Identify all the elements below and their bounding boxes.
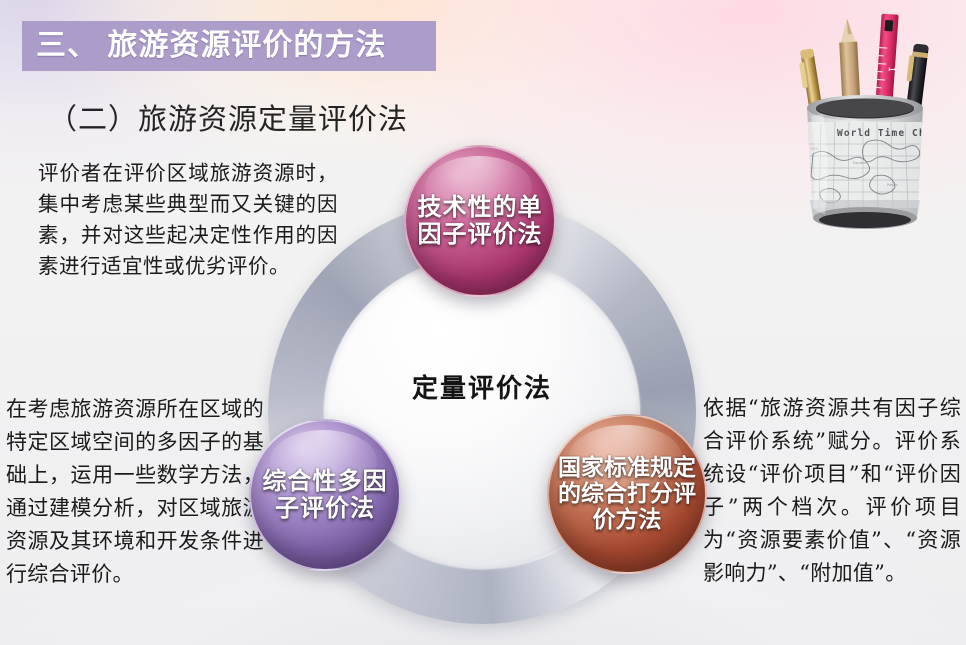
slide-canvas: 三、 旅游资源评价的方法 （二）旅游资源定量评价法 评价者在评价区域旅游资源时，… xyxy=(0,0,966,645)
paragraph-right: 依据“旅游资源共有因子综合评价系统”赋分。评价系统设“评价项目”和“评价因子”两… xyxy=(703,392,961,590)
cup-caption-text: World Time Chart xyxy=(837,128,946,139)
diagram-node-composite-label: 综合性多因子评价法 xyxy=(251,468,399,523)
cup-body: World Time Chart GMT Equator Pacific xyxy=(807,95,946,229)
diagram-node-national[interactable]: 国家标准规定的综合打分评价方法 xyxy=(547,414,707,574)
page-title: 三、 旅游资源评价的方法 xyxy=(22,31,386,61)
section-subtitle: （二）旅游资源定量评价法 xyxy=(48,96,408,138)
svg-text:Equator: Equator xyxy=(853,161,867,165)
diagram-center-label: 定量评价法 xyxy=(268,368,696,405)
section-title-banner: 三、 旅游资源评价的方法 xyxy=(22,21,436,71)
paragraph-bottom-left: 在考虑旅游资源所在区域的特定区域空间的多因子的基础上，运用一些数学方法，通过建模… xyxy=(6,393,264,591)
diagram-node-technical-label: 技术性的单因子评价法 xyxy=(406,194,554,249)
pencil-cup-image: 1 2 xyxy=(779,4,951,248)
svg-text:1: 1 xyxy=(886,66,896,72)
svg-text:Pacific: Pacific xyxy=(887,183,898,187)
diagram-node-composite[interactable]: 综合性多因子评价法 xyxy=(249,419,401,571)
diagram-node-national-label: 国家标准规定的综合打分评价方法 xyxy=(549,455,705,534)
pencil-cup-illustration: 1 2 xyxy=(779,4,951,248)
diagram-node-technical[interactable]: 技术性的单因子评价法 xyxy=(404,145,556,297)
